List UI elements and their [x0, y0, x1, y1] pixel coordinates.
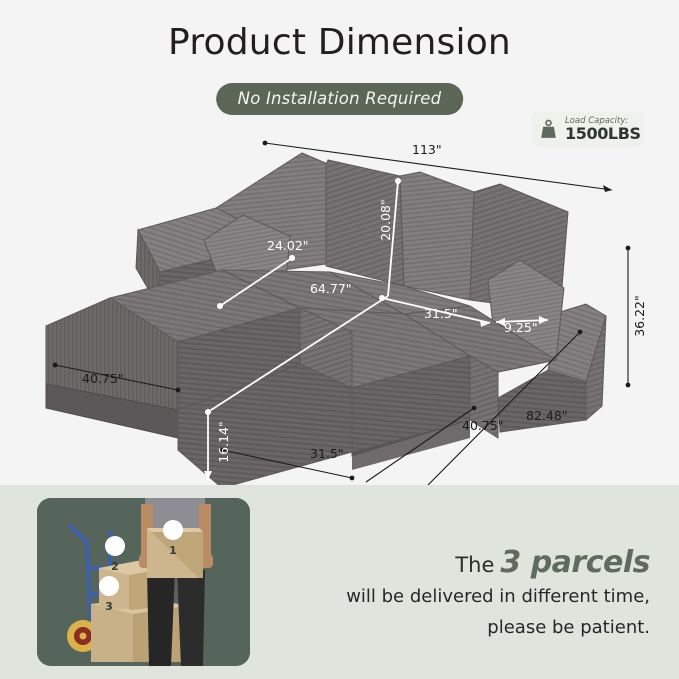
parcel-marker-1-label: 1 [169, 544, 177, 557]
dim-label-module-width-left: 40.75" [82, 371, 124, 386]
delivery-detail-line-1: will be delivered in different time, [300, 585, 650, 610]
parcel-marker-2-label: 2 [111, 560, 119, 573]
no-installation-badge: No Installation Required [216, 83, 464, 115]
delivery-parcel-count: 3 parcels [500, 545, 650, 580]
delivery-detail-line-2: please be patient. [300, 616, 650, 641]
delivery-message: The3 parcels will be delivered in differ… [300, 546, 650, 641]
sofa-diagram: 113" 20.08" 24.02" 64.77" 31.5" 9.25" 16… [0, 120, 679, 485]
dim-label-back-cushion-height: 20.08" [378, 199, 393, 241]
dim-label-module-depth-right: 40.75" [462, 418, 504, 433]
dim-label-overall-width: 113" [412, 142, 442, 157]
product-dimension-infographic: Product Dimension No Installation Requir… [0, 0, 679, 679]
dim-label-arm-width: 9.25" [504, 320, 538, 335]
dim-label-seat-height: 16.14" [216, 421, 231, 463]
dim-label-overall-depth: 82.48" [526, 408, 568, 423]
parcels-photo: 1 2 3 [37, 498, 250, 666]
delivery-headline-prefix: The [455, 553, 494, 577]
dim-label-module-width-front: 31.5" [310, 446, 344, 461]
delivery-headline: The3 parcels [300, 546, 650, 579]
dim-label-overall-height: 36.22" [632, 295, 647, 337]
dim-label-chaise-length: 64.77" [310, 281, 352, 296]
dim-label-seat-depth: 24.02" [267, 238, 309, 253]
parcels-illustration: 1 2 3 [37, 498, 250, 666]
dim-label-seat-width: 31.5" [424, 306, 458, 321]
parcel-marker-3-label: 3 [105, 600, 113, 613]
page-title: Product Dimension [0, 22, 679, 63]
sofa-illustration: 113" 20.08" 24.02" 64.77" 31.5" 9.25" 16… [0, 120, 679, 485]
